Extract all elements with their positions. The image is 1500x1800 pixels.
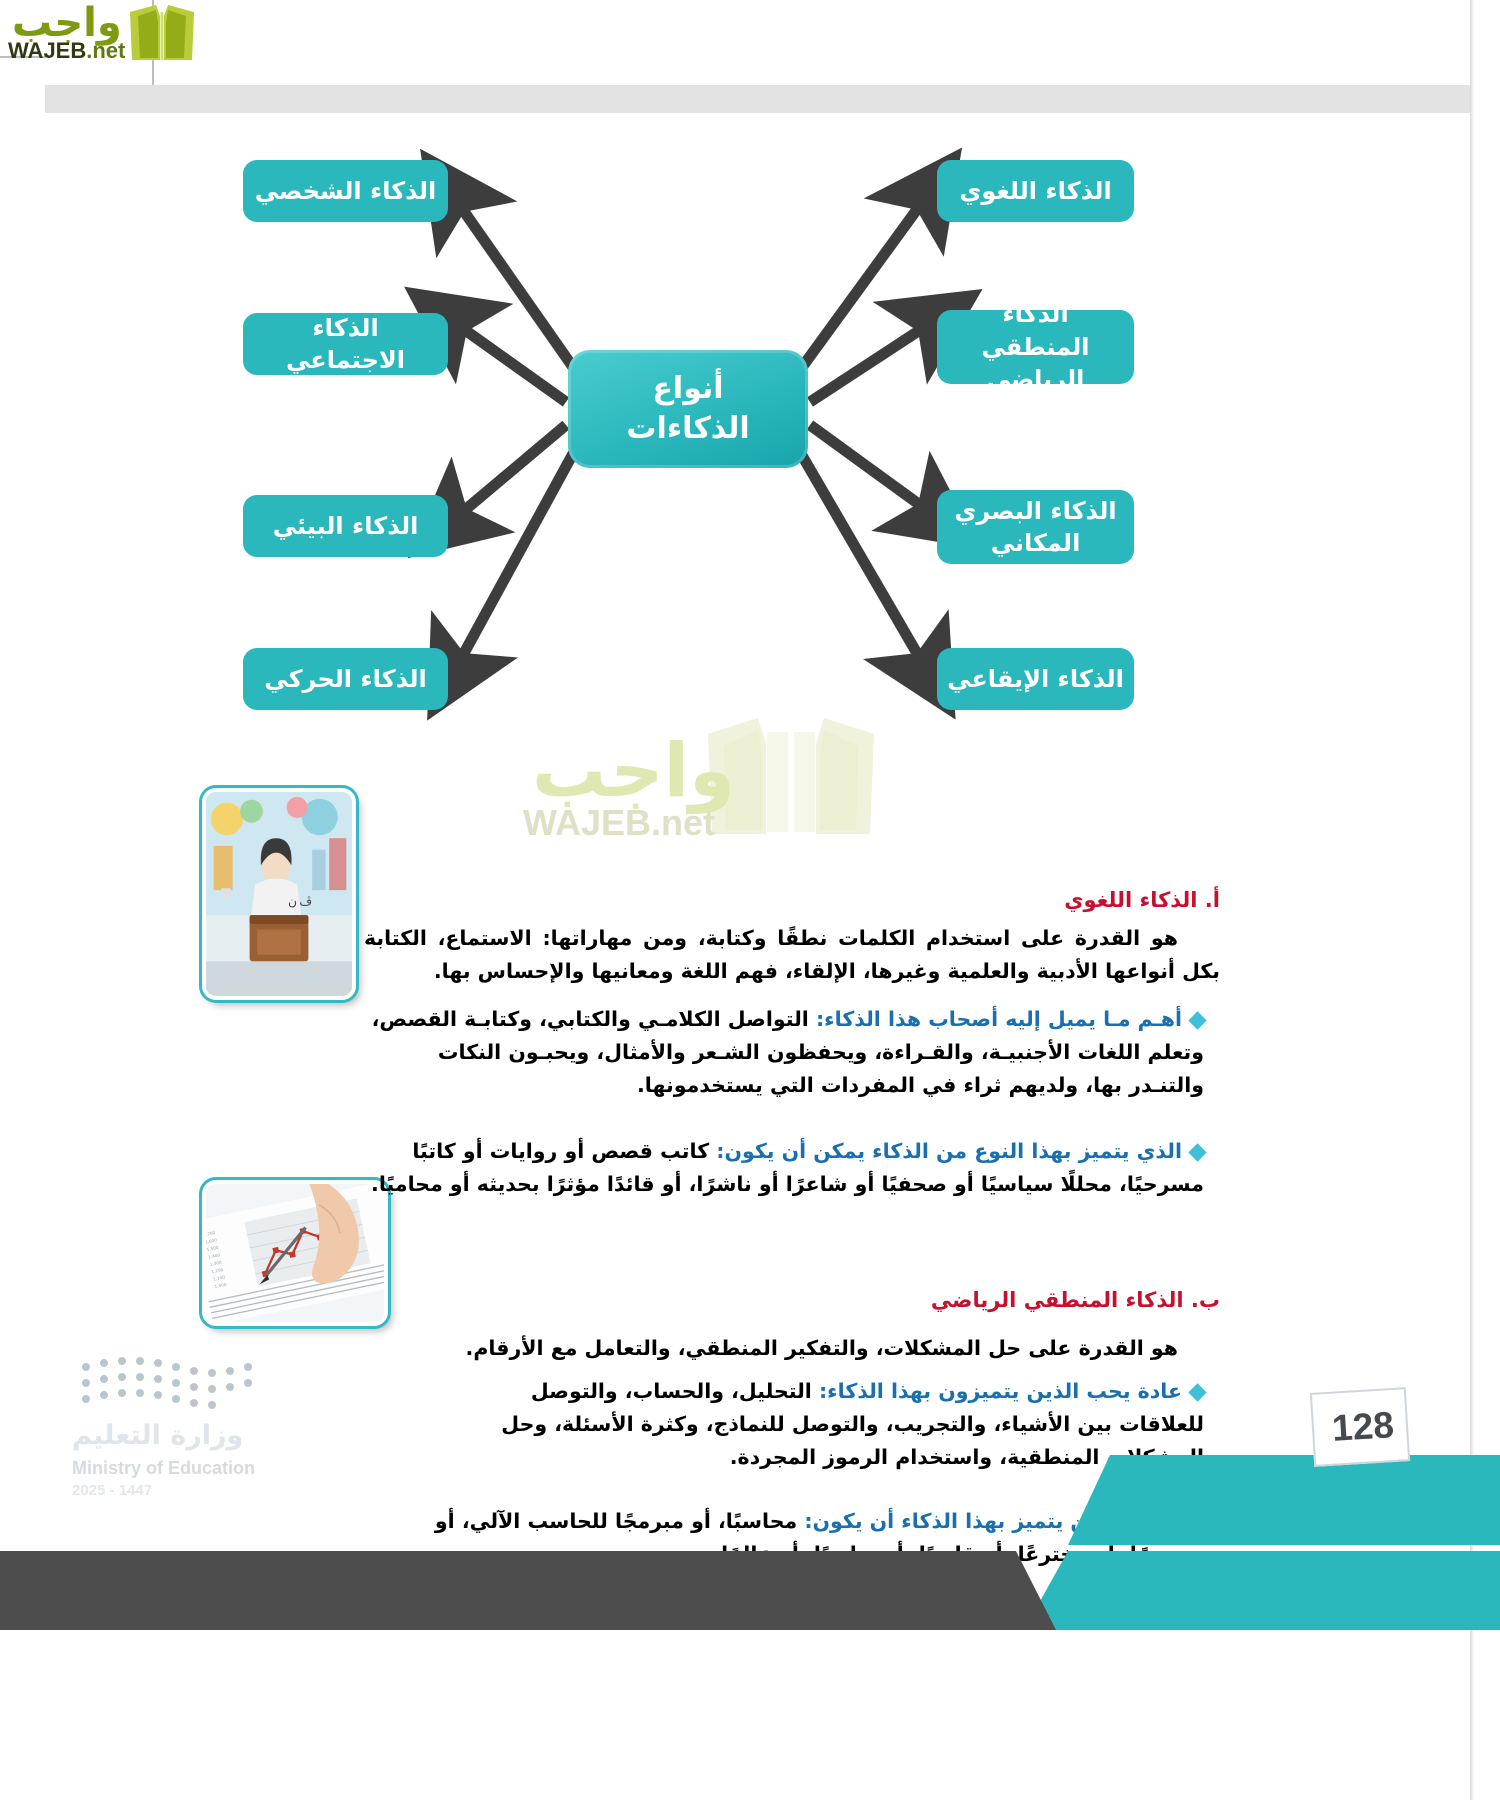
wajeb-logo[interactable]: واجب WAJEB.net: [8, 2, 198, 72]
section-a-intro: هو القدرة على استخدام الكلمات نطقًا وكتا…: [364, 922, 1220, 988]
section-a-bullet-1: أهـم مـا يميل إليه أصحاب هذا الذكاء: الت…: [364, 1003, 1204, 1103]
center-node-line2: الذكاءات: [626, 409, 749, 450]
open-book-icon: [126, 2, 198, 66]
bullet-a2-lead: الذي يتميز بهذا النوع من الذكاء يمكن أن …: [716, 1139, 1182, 1163]
diagram-node-logical-math: الذكاء المنطقي الرياضي: [937, 310, 1134, 384]
section-b-heading: ب. الذكاء المنطقي الرياضي: [260, 1288, 1220, 1312]
diamond-bullet-icon: [1188, 1383, 1206, 1401]
section-b-intro: هو القدرة على حل المشكلات، والتفكير المن…: [450, 1332, 1220, 1365]
bullet-a1-lead: أهـم مـا يميل إليه أصحاب هذا الذكاء:: [816, 1007, 1182, 1031]
footer-decorative-band: [0, 1455, 1500, 1630]
diagram-node-rhythmic: الذكاء الإيقاعي: [937, 648, 1134, 710]
center-node-line1: أنواع: [626, 369, 749, 410]
textbook-page: واجب WAJEB.net: [0, 0, 1500, 1800]
diagram-node-environmental: الذكاء البيئي: [243, 495, 448, 557]
top-gray-band: [45, 85, 1470, 113]
bullet-b1-lead: عادة يحب الذين يتميزون بهذا الذكاء:: [819, 1379, 1182, 1403]
intelligence-types-diagram: أنواع الذكاءات الذكاء الشخصي الذكاء الاج…: [0, 120, 1500, 760]
diagram-node-visual-spatial: الذكاء البصري المكاني: [937, 490, 1134, 564]
diagram-node-linguistic: الذكاء اللغوي: [937, 160, 1134, 222]
diagram-node-social: الذكاء الاجتماعي: [243, 313, 448, 375]
page-number: 128: [1318, 1395, 1407, 1458]
section-a-heading: أ. الذكاء اللغوي: [260, 888, 1220, 912]
section-a-bullet-2: الذي يتميز بهذا النوع من الذكاء يمكن أن …: [364, 1135, 1204, 1201]
ministry-name-arabic: وزارة التعليم: [72, 1420, 243, 1451]
diagram-node-kinesthetic: الذكاء الحركي: [243, 648, 448, 710]
wajeb-latin-wordmark: WAJEB.net: [8, 38, 125, 64]
watermark-latin-text: WAJEB.net: [523, 802, 715, 844]
diagram-node-personal: الذكاء الشخصي: [243, 160, 448, 222]
ministry-dots-pattern: [78, 1355, 268, 1410]
diamond-bullet-icon: [1188, 1143, 1206, 1161]
diagram-center-node: أنواع الذكاءات: [568, 350, 808, 468]
diamond-bullet-icon: [1188, 1011, 1206, 1029]
